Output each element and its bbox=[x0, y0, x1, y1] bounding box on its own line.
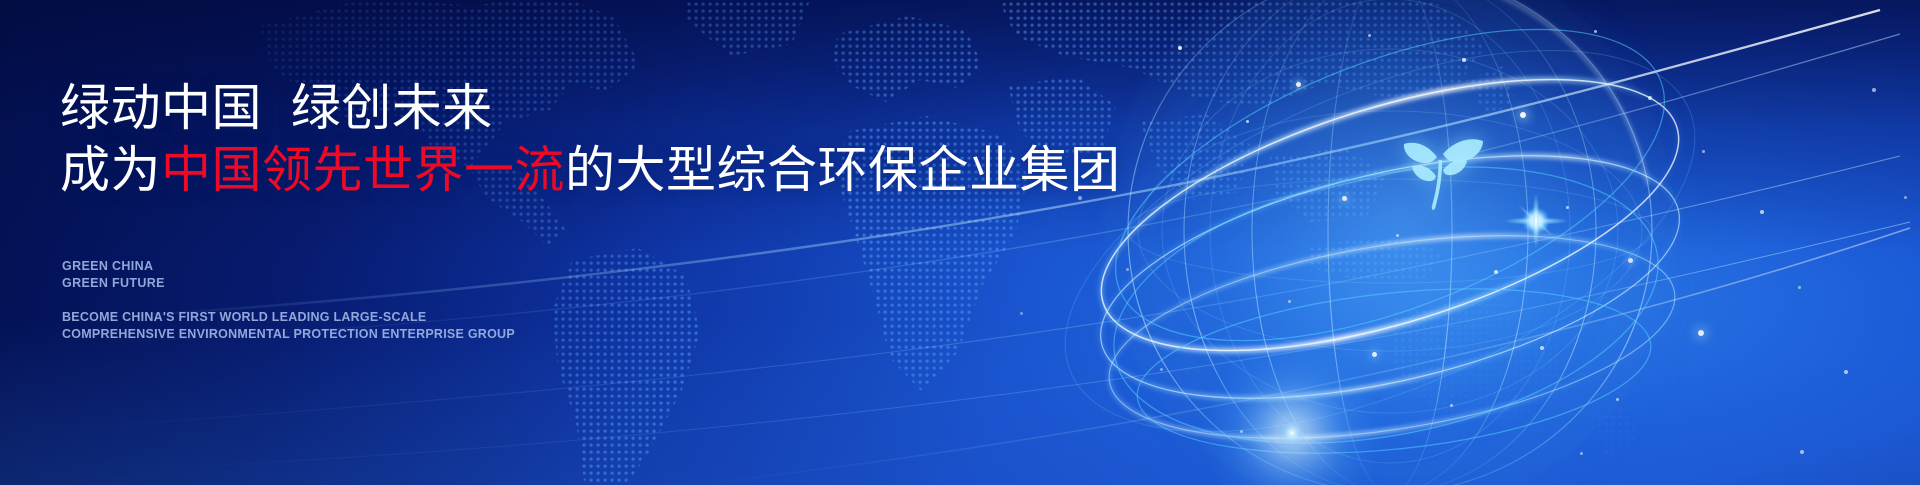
copy-block: 绿动中国 绿创未来 成为中国领先世界一流的大型综合环保企业集团 GREEN CH… bbox=[0, 0, 1040, 485]
page-title: 绿动中国 绿创未来 成为中国领先世界一流的大型综合环保企业集团 bbox=[60, 78, 1020, 200]
headline-line-2-suffix: 的大型综合环保企业集团 bbox=[565, 142, 1121, 198]
description-english-line-2: COMPREHENSIVE ENVIRONMENTAL PROTECTION E… bbox=[62, 326, 515, 343]
description-english: BECOME CHINA'S FIRST WORLD LEADING LARGE… bbox=[62, 309, 515, 342]
headline-line-2-prefix: 成为 bbox=[60, 142, 161, 198]
slogan-english-line-1: GREEN CHINA bbox=[62, 258, 165, 275]
slogan-english-line-2: GREEN FUTURE bbox=[62, 275, 165, 292]
headline-line-2-highlight: 中国领先世界一流 bbox=[161, 142, 565, 198]
headline-line-1: 绿动中国 绿创未来 bbox=[60, 78, 1020, 138]
headline-line-2: 成为中国领先世界一流的大型综合环保企业集团 bbox=[60, 140, 1020, 200]
slogan-english: GREEN CHINA GREEN FUTURE bbox=[62, 258, 165, 291]
hero-banner: 绿动中国 绿创未来 成为中国领先世界一流的大型综合环保企业集团 GREEN CH… bbox=[0, 0, 1920, 485]
description-english-line-1: BECOME CHINA'S FIRST WORLD LEADING LARGE… bbox=[62, 309, 515, 326]
